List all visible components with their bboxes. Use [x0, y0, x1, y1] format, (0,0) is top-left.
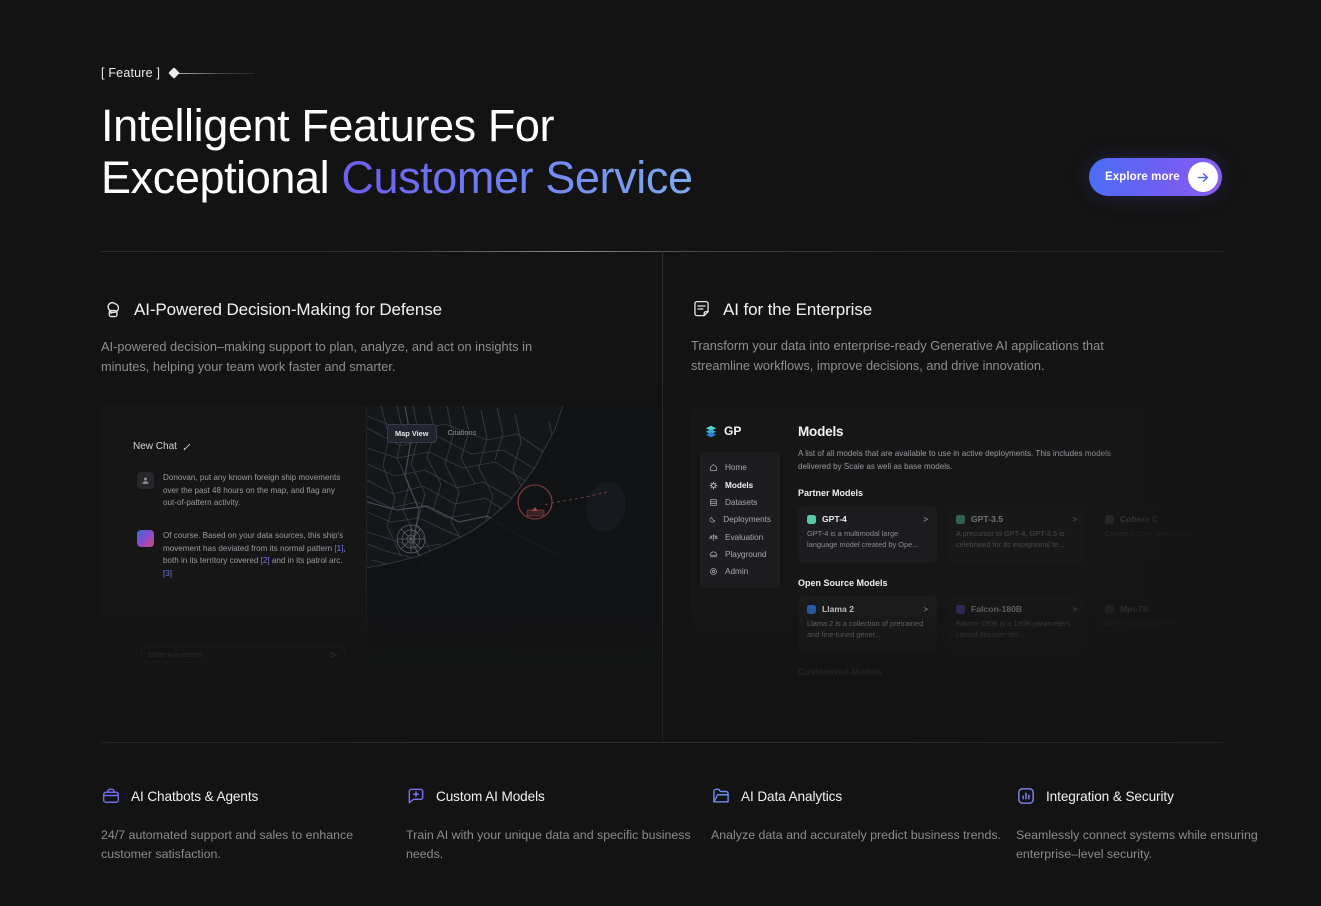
feature-eyebrow: [ Feature ] [101, 62, 1223, 84]
model-desc: MPT-7B is a transformer [1105, 619, 1223, 630]
model-card-gpt35[interactable]: GPT-3.5 > A precursor to GPT-4, GPT-3.5 … [947, 506, 1086, 563]
model-card-llama2[interactable]: Llama 2 > Llama 2 is a collection of pre… [798, 596, 937, 653]
page-root: [ Feature ] Intelligent Features For Exc… [0, 0, 1321, 906]
map-tab-citations[interactable]: Citations [441, 424, 484, 443]
nav-label-playground: Playground [725, 550, 766, 559]
section-heading-customized-models: Customized Models [798, 667, 1223, 677]
chat-pane: New Chat Donovan, put any known foreign … [101, 406, 367, 696]
chat-message-assistant-text: Of course. Based on your data sources, t… [163, 530, 351, 580]
nav-item-datasets[interactable]: Datasets [700, 494, 780, 511]
model-desc: Falcon-180B is a 180B parameters causal … [956, 619, 1077, 640]
nav-item-playground[interactable]: Playground [700, 546, 780, 563]
map-view-tabs[interactable]: Map View Citations [387, 424, 483, 443]
map-canvas [367, 406, 662, 696]
ai-avatar-icon [137, 530, 154, 547]
playground-icon [709, 550, 718, 559]
feature-ai-chatbots: AI Chatbots & Agents 24/7 automated supp… [101, 786, 406, 864]
eyebrow-line-decoration [174, 73, 254, 74]
pencil-icon [183, 443, 191, 451]
nav-label-datasets: Datasets [725, 498, 757, 507]
nav-label-home: Home [725, 463, 747, 472]
panel-enterprise-desc: Transform your data into enterprise-read… [663, 336, 1123, 376]
chevron-right-icon: > [923, 515, 928, 524]
model-name: Llama 2 [822, 604, 917, 614]
scales-icon [709, 533, 718, 542]
model-color-swatch [807, 605, 816, 614]
database-icon [709, 498, 718, 507]
model-card-gpt4[interactable]: GPT-4 > GPT-4 is a multimodal large lang… [798, 506, 937, 563]
chat-message-user-text: Donovan, put any known foreign ship move… [163, 472, 351, 510]
model-desc: Llama 2 is a collection of pretrained an… [807, 619, 928, 640]
hero-section: [ Feature ] Intelligent Features For Exc… [101, 62, 1223, 204]
new-chat-button[interactable]: New Chat [133, 441, 191, 452]
model-card-falcon180b[interactable]: Falcon-180B > Falcon-180B is a 180B para… [947, 596, 1086, 653]
page-title: Intelligent Features For Exceptional Cus… [101, 100, 1223, 204]
feature-desc: Analyze data and accurately predict busi… [711, 826, 1016, 845]
chat-input[interactable]: Enter a question [141, 646, 345, 663]
home-icon [709, 463, 718, 472]
nav-item-home[interactable]: Home [700, 459, 780, 476]
models-console: GP Home Models Datasets [690, 408, 1223, 696]
chevron-right-icon: > [923, 605, 928, 614]
model-color-swatch [807, 515, 816, 524]
message-plus-icon [406, 786, 426, 806]
feature-title: Integration & Security [1046, 789, 1174, 804]
model-color-swatch [1105, 515, 1114, 524]
model-name: Cohere C [1120, 514, 1223, 524]
title-line-2-accent: Customer Service [341, 152, 692, 203]
partner-models-row: GPT-4 > GPT-4 is a multimodal large lang… [798, 506, 1223, 563]
chat-input-placeholder: Enter a question [148, 650, 330, 659]
briefcase-icon [101, 786, 121, 806]
chevron-right-icon: > [1072, 515, 1077, 524]
nav-label-models: Models [725, 481, 753, 490]
model-desc: GPT-4 is a multimodal large language mod… [807, 529, 928, 550]
panel-defense-desc: AI-powered decision–making support to pl… [101, 337, 571, 377]
arrow-right-circle-icon [1188, 162, 1218, 192]
panel-defense-title: AI-Powered Decision-Making for Defense [134, 300, 442, 320]
feature-desc: Train AI with your unique data and speci… [406, 826, 711, 864]
title-line-2-plain: Exceptional [101, 152, 341, 203]
nav-item-models[interactable]: Models [700, 476, 780, 493]
chevron-right-icon: > [1072, 605, 1077, 614]
model-name: GPT-3.5 [971, 514, 1066, 524]
panel-defense-header: AI-Powered Decision-Making for Defense [101, 251, 662, 321]
console-sidebar: GP Home Models Datasets [690, 408, 790, 696]
console-page-title: Models [798, 424, 1223, 439]
nav-item-admin[interactable]: Admin [700, 563, 780, 580]
model-name: GPT-4 [822, 514, 917, 524]
console-brand: GP [690, 408, 790, 438]
defense-app-screenshot: Map View Citations New Chat Donovan, put… [101, 406, 662, 696]
console-page-desc: A list of all models that are available … [798, 448, 1128, 473]
chat-message-user: Donovan, put any known foreign ship move… [137, 472, 351, 510]
title-line-1: Intelligent Features For [101, 100, 554, 151]
feature-custom-ai-models: Custom AI Models Train AI with your uniq… [406, 786, 711, 864]
feature-desc: 24/7 automated support and sales to enha… [101, 826, 406, 864]
user-avatar-icon [137, 472, 154, 489]
nav-label-deployments: Deployments [723, 515, 771, 524]
model-name: Mpt-7B [1120, 604, 1223, 614]
map-pane: Map View Citations [367, 406, 662, 696]
models-icon [709, 481, 718, 490]
model-card-cohere[interactable]: Cohere C Cohere's Com generative m [1096, 506, 1223, 563]
moon-icon [709, 515, 716, 524]
chat-message-assistant: Of course. Based on your data sources, t… [137, 530, 351, 580]
section-heading-open-source-models: Open Source Models [798, 578, 1223, 588]
send-icon[interactable] [330, 651, 338, 659]
feature-ai-data-analytics: AI Data Analytics Analyze data and accur… [711, 786, 1016, 864]
model-card-mpt7b[interactable]: Mpt-7B MPT-7B is a transformer [1096, 596, 1223, 653]
eyebrow-label: [ Feature ] [101, 66, 160, 80]
nav-label-admin: Admin [725, 567, 748, 576]
nav-item-deployments[interactable]: Deployments [700, 511, 780, 528]
feature-title: Custom AI Models [436, 789, 545, 804]
new-chat-label: New Chat [133, 441, 177, 452]
nav-item-evaluation[interactable]: Evaluation [700, 529, 780, 546]
model-desc: Cohere's Com generative m [1105, 529, 1223, 540]
feature-title: AI Data Analytics [741, 789, 842, 804]
folder-icon [711, 786, 731, 806]
citation-2[interactable]: [2] [261, 556, 270, 565]
model-color-swatch [956, 605, 965, 614]
console-nav: Home Models Datasets Deployments [700, 452, 780, 588]
chat-bubbles-icon [101, 299, 123, 321]
panel-enterprise-title: AI for the Enterprise [723, 300, 872, 320]
section-heading-partner-models: Partner Models [798, 488, 1223, 498]
panel-enterprise-header: AI for the Enterprise [663, 251, 1223, 320]
explore-more-label: Explore more [1105, 171, 1188, 183]
feature-desc: Seamlessly connect systems while ensurin… [1016, 826, 1321, 864]
divider-bottom [101, 742, 1223, 743]
feature-title: AI Chatbots & Agents [131, 789, 258, 804]
map-tab-map-view[interactable]: Map View [387, 424, 437, 443]
panel-enterprise: AI for the Enterprise Transform your dat… [663, 251, 1223, 376]
bar-chart-box-icon [1016, 786, 1036, 806]
enterprise-app-screenshot: GP Home Models Datasets [690, 408, 1223, 696]
model-color-swatch [1105, 605, 1114, 614]
explore-more-button[interactable]: Explore more [1089, 158, 1222, 196]
citation-3[interactable]: [3] [163, 569, 172, 578]
model-desc: A precursor to GPT-4, GPT-3.5 is celebra… [956, 529, 1077, 550]
model-name: Falcon-180B [971, 604, 1066, 614]
console-main: Models A list of all models that are ava… [798, 408, 1223, 696]
feature-list: AI Chatbots & Agents 24/7 automated supp… [101, 786, 1223, 864]
gear-icon [709, 567, 718, 576]
open-source-models-row: Llama 2 > Llama 2 is a collection of pre… [798, 596, 1223, 653]
model-color-swatch [956, 515, 965, 524]
feature-integration-security: Integration & Security Seamlessly connec… [1016, 786, 1321, 864]
document-ai-icon [691, 299, 712, 320]
console-brand-name: GP [724, 424, 741, 438]
nav-label-evaluation: Evaluation [725, 533, 763, 542]
diamond-dot-icon [169, 67, 180, 78]
panel-defense: AI-Powered Decision-Making for Defense A… [101, 251, 662, 377]
layers-stack-icon [704, 424, 718, 438]
